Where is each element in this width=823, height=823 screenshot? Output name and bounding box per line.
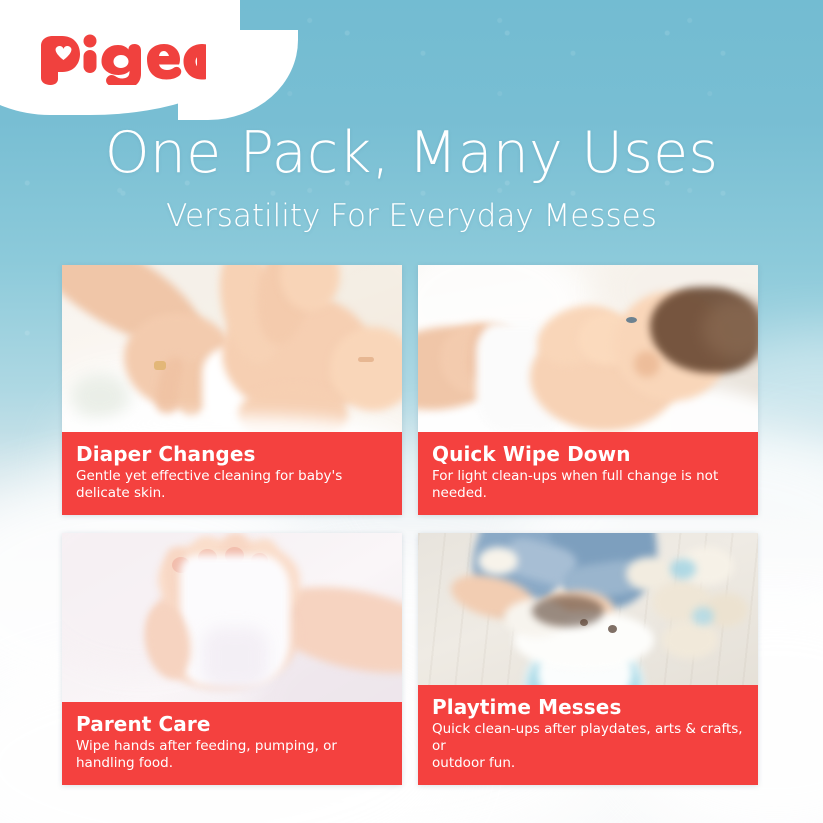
card-description: For light clean-ups when full change is … — [432, 468, 744, 502]
card-caption-quick-wipe-down: Quick Wipe Down For light clean-ups when… — [418, 432, 758, 515]
page-subtitle: Versatility For Everyday Messes — [0, 196, 823, 236]
infographic-canvas: One Pack, Many Uses Versatility For Ever… — [0, 0, 823, 823]
card-title: Parent Care — [76, 713, 388, 736]
pigeon-logo — [36, 33, 206, 85]
pigeon-wordmark-icon — [36, 33, 206, 85]
card-playtime-messes[interactable]: Playtime Messes Quick clean-ups after pl… — [418, 533, 758, 785]
card-image-quick-wipe-down — [418, 265, 758, 440]
card-diaper-changes[interactable]: Diaper Changes Gentle yet effective clea… — [62, 265, 402, 515]
card-caption-playtime-messes: Playtime Messes Quick clean-ups after pl… — [418, 685, 758, 785]
card-caption-parent-care: Parent Care Wipe hands after feeding, pu… — [62, 702, 402, 785]
card-title: Playtime Messes — [432, 696, 744, 719]
card-title: Quick Wipe Down — [432, 443, 744, 466]
page-title: One Pack, Many Uses — [0, 120, 823, 186]
card-parent-care[interactable]: Parent Care Wipe hands after feeding, pu… — [62, 533, 402, 785]
card-title: Diaper Changes — [76, 443, 388, 466]
card-quick-wipe-down[interactable]: Quick Wipe Down For light clean-ups when… — [418, 265, 758, 515]
card-image-parent-care — [62, 533, 402, 725]
card-description: Wipe hands after feeding, pumping, or ha… — [76, 738, 388, 772]
card-description: Gentle yet effective cleaning for baby's… — [76, 468, 388, 502]
card-image-diaper-changes — [62, 265, 402, 440]
card-caption-diaper-changes: Diaper Changes Gentle yet effective clea… — [62, 432, 402, 515]
card-description: Quick clean-ups after playdates, arts & … — [432, 721, 744, 772]
